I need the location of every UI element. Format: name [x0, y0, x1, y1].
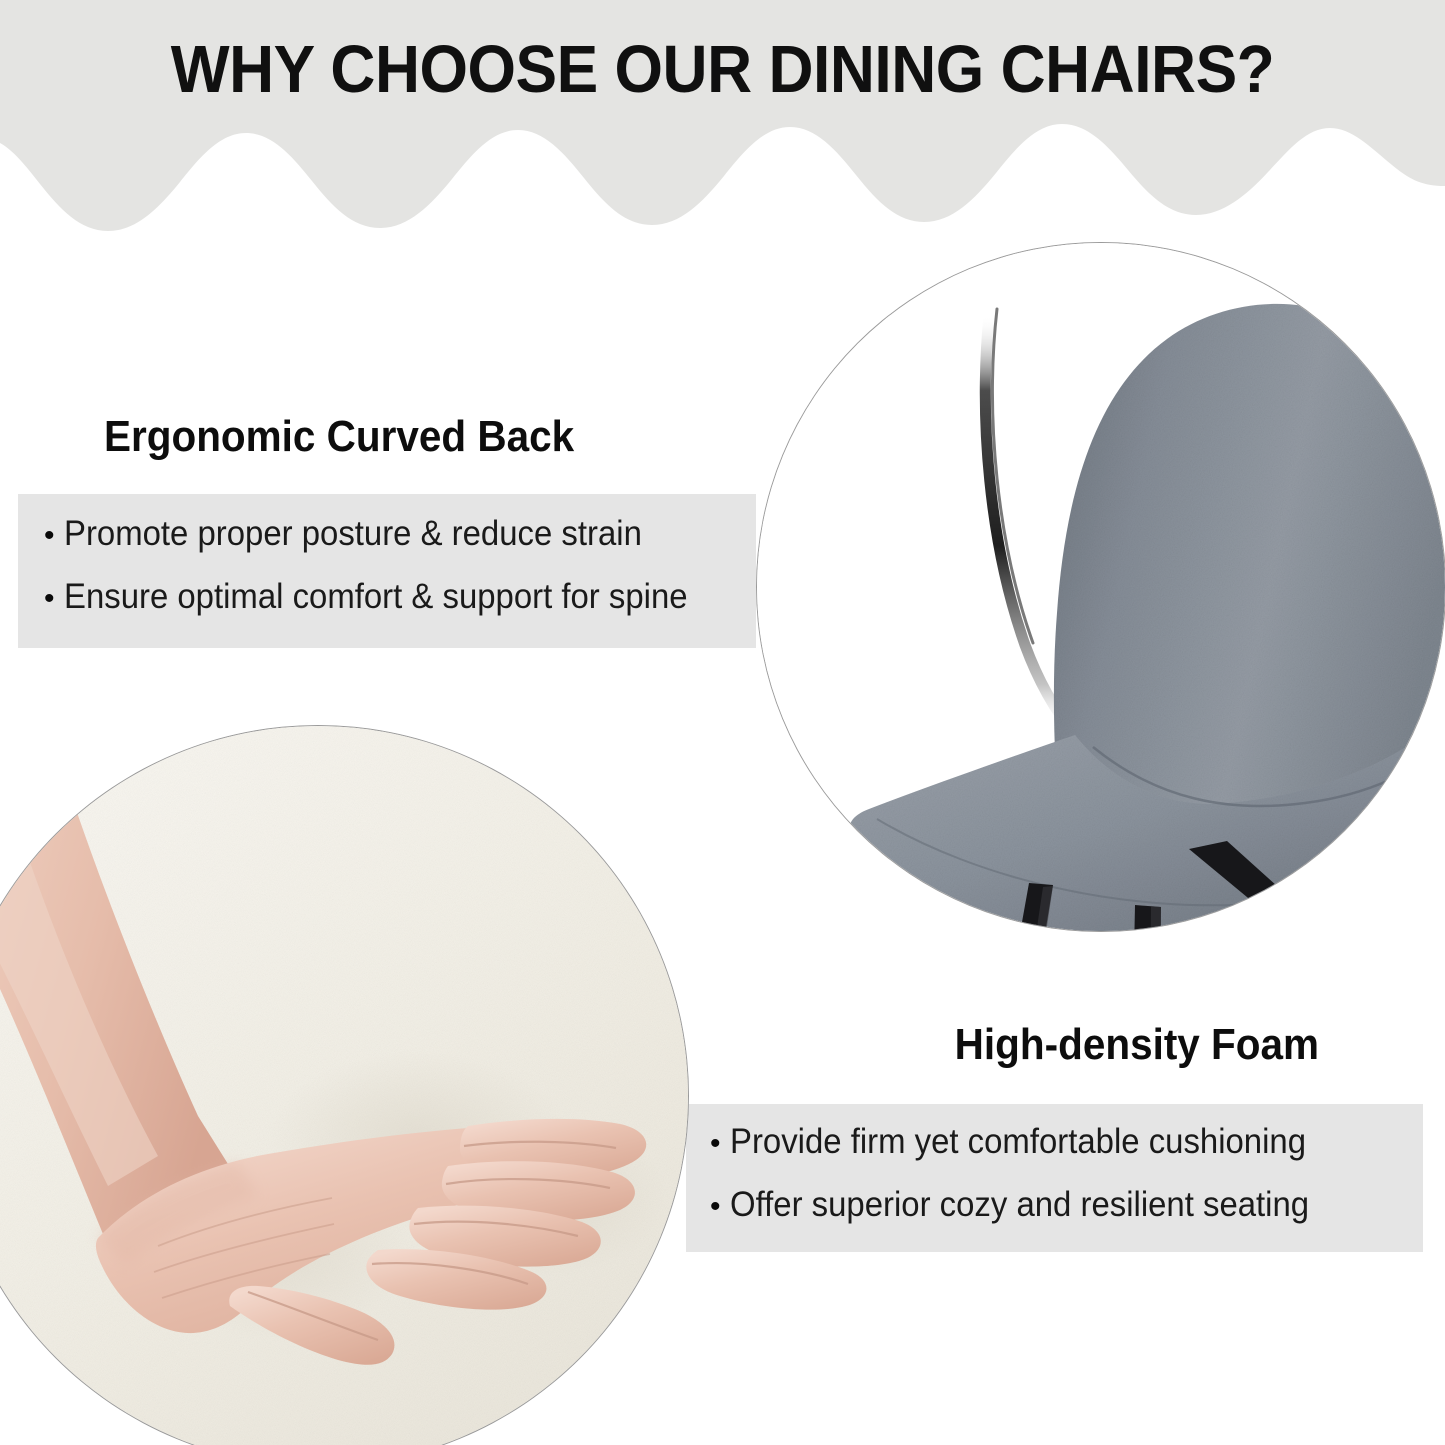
bullet-text: Promote proper posture & reduce strain	[64, 516, 642, 551]
list-item: • Offer superior cozy and resilient seat…	[710, 1187, 1423, 1222]
foam-hand-press-photo	[0, 726, 688, 1445]
foam-hand-illustration-icon	[0, 726, 688, 1445]
bullet-box-ergonomic: • Promote proper posture & reduce strain…	[18, 494, 756, 648]
list-item: • Promote proper posture & reduce strain	[44, 516, 756, 551]
bullet-text: Offer superior cozy and resilient seatin…	[730, 1187, 1309, 1222]
bullet-box-foam: • Provide firm yet comfortable cushionin…	[686, 1104, 1423, 1252]
chair-illustration-icon	[757, 243, 1445, 931]
bullet-text: Ensure optimal comfort & support for spi…	[64, 579, 688, 614]
page-title: WHY CHOOSE OUR DINING CHAIRS?	[51, 36, 1395, 103]
section-heading-foam: High-density Foam	[955, 1022, 1319, 1068]
bullet-text: Provide firm yet comfortable cushioning	[730, 1124, 1306, 1159]
infographic-page: WHY CHOOSE OUR DINING CHAIRS? Ergonomic …	[0, 0, 1445, 1445]
bullet-dot-icon: •	[710, 1192, 721, 1222]
bullet-dot-icon: •	[710, 1129, 721, 1159]
list-item: • Provide firm yet comfortable cushionin…	[710, 1124, 1423, 1159]
bullet-dot-icon: •	[44, 521, 55, 551]
list-item: • Ensure optimal comfort & support for s…	[44, 579, 756, 614]
section-heading-ergonomic: Ergonomic Curved Back	[104, 414, 574, 460]
chair-closeup-photo	[757, 243, 1445, 931]
bullet-dot-icon: •	[44, 584, 55, 614]
